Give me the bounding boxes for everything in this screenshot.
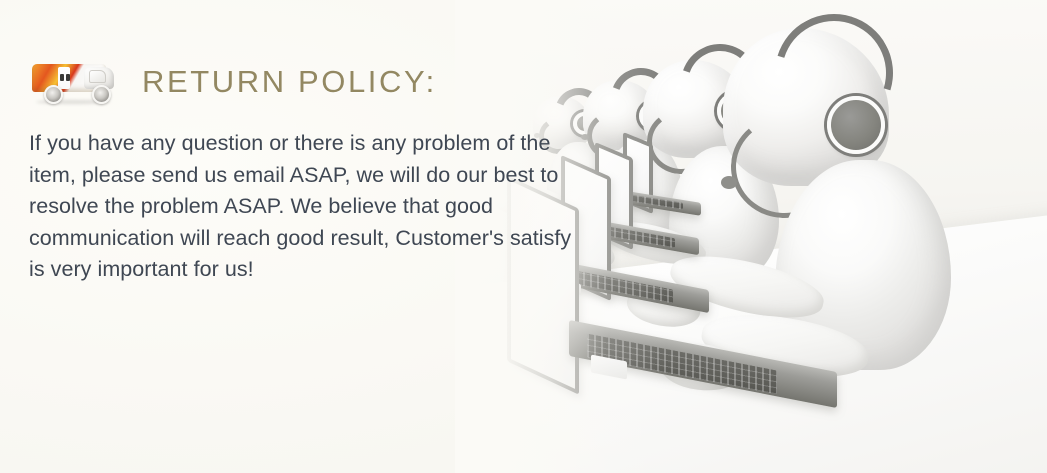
- delivery-van-icon: [28, 58, 120, 104]
- policy-header: RETURN POLICY:: [28, 58, 437, 104]
- headset-mic-tip-icon: [721, 176, 737, 189]
- return-policy-banner: RETURN POLICY: If you have any question …: [0, 0, 1047, 473]
- van-wheel: [92, 85, 111, 104]
- van-marking: [66, 74, 70, 81]
- policy-content: RETURN POLICY: If you have any question …: [0, 0, 580, 473]
- van-marking: [60, 74, 64, 81]
- page-title: RETURN POLICY:: [142, 66, 437, 97]
- headset-earcup-icon: [827, 96, 885, 154]
- policy-body-text: If you have any question or there is any…: [29, 128, 574, 286]
- van-wheel: [44, 85, 63, 104]
- headset-mic-tip-icon: [581, 134, 589, 140]
- van-window: [89, 70, 106, 83]
